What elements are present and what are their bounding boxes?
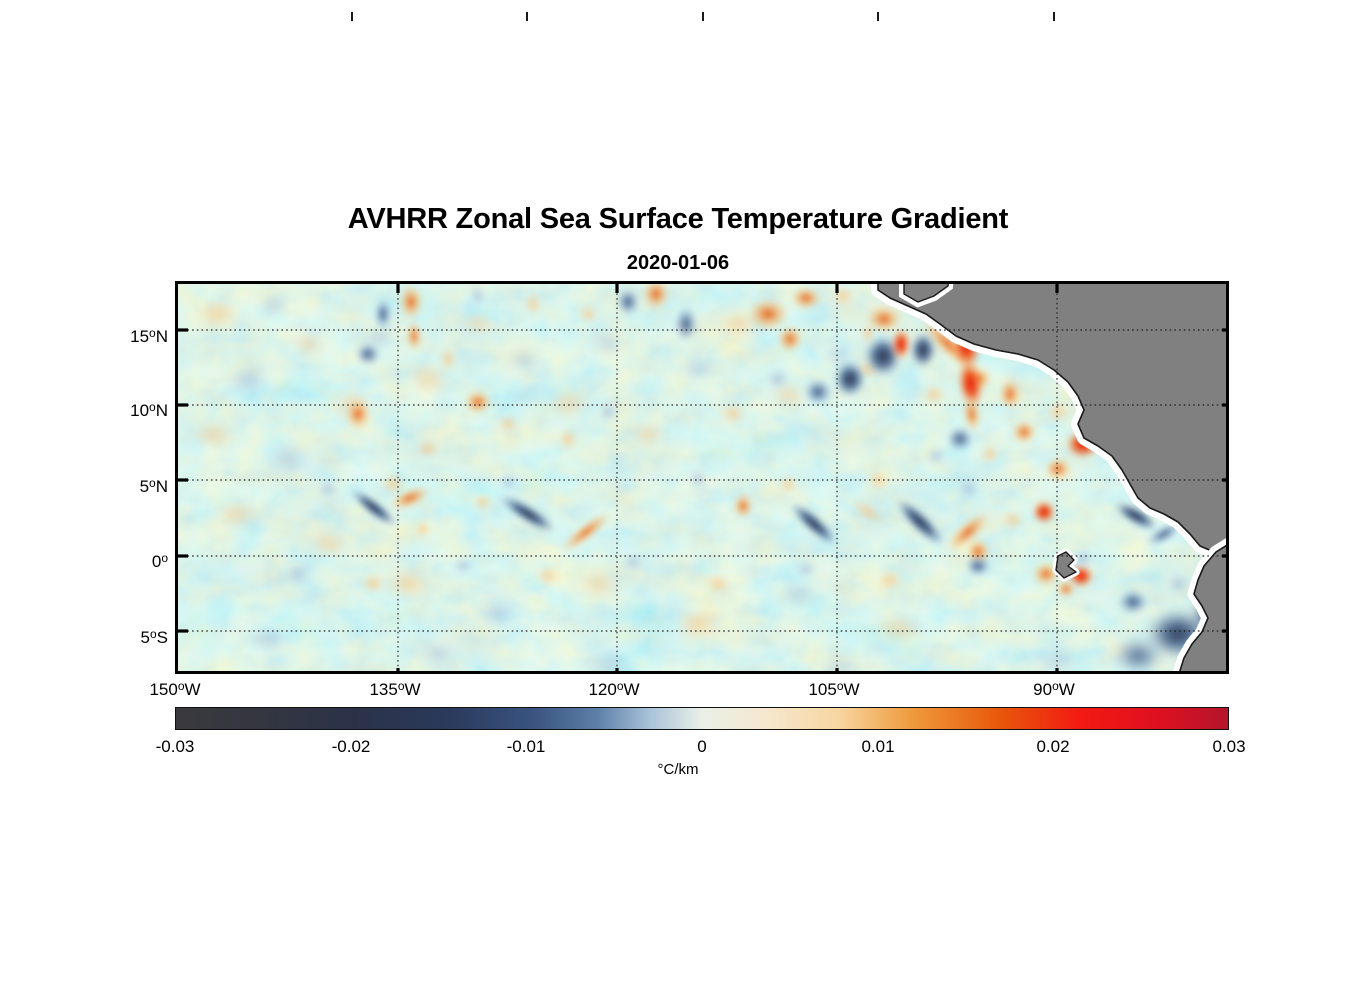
colorbar-label-neg003: -0.03 bbox=[128, 738, 222, 755]
colorbar-gradient bbox=[176, 708, 1228, 729]
ytick-label-5n: 5oN bbox=[140, 477, 168, 495]
colorbar-label-zero: 0 bbox=[655, 738, 749, 755]
colorbar-label-002: 0.02 bbox=[1006, 738, 1100, 755]
ytick-label-15n: 15oN bbox=[130, 327, 168, 345]
galapagos-islands bbox=[1056, 552, 1076, 578]
colorbar-label-001: 0.01 bbox=[831, 738, 925, 755]
colorbar-tick-mark bbox=[702, 12, 704, 21]
xtick-label-135w: 135oW bbox=[355, 680, 435, 698]
figure-canvas: AVHRR Zonal Sea Surface Temperature Grad… bbox=[0, 0, 1356, 1000]
colorbar bbox=[175, 707, 1229, 730]
colorbar-tick-mark bbox=[1053, 12, 1055, 21]
colorbar-tick-mark bbox=[351, 12, 353, 21]
ytick-label-10n: 10oN bbox=[130, 401, 168, 419]
ytick-label-0: 0o bbox=[152, 552, 168, 570]
colorbar-label-neg002: -0.02 bbox=[304, 738, 398, 755]
xtick-label-105w: 105oW bbox=[794, 680, 874, 698]
ytick-label-5s: 5oS bbox=[141, 628, 169, 646]
colorbar-tick-mark bbox=[526, 12, 528, 21]
colorbar-tick-mark bbox=[877, 12, 879, 21]
colorbar-label-003: 0.03 bbox=[1182, 738, 1276, 755]
xtick-label-90w: 90oW bbox=[1016, 680, 1092, 698]
page-title: AVHRR Zonal Sea Surface Temperature Grad… bbox=[0, 203, 1356, 236]
xtick-label-150w: 150oW bbox=[135, 680, 215, 698]
sst-gradient-heatmap bbox=[178, 284, 1229, 674]
colorbar-unit-label: °C/km bbox=[0, 761, 1356, 778]
colorbar-label-neg001: -0.01 bbox=[479, 738, 573, 755]
figure-subtitle: 2020-01-06 bbox=[0, 252, 1356, 275]
xtick-label-120w: 120oW bbox=[574, 680, 654, 698]
map-plot-area bbox=[175, 281, 1229, 674]
